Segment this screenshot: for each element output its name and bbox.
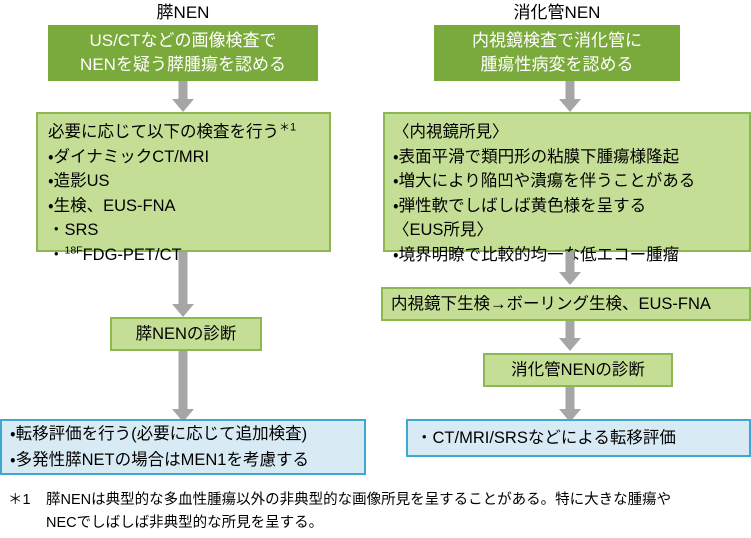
right-diagnosis-box: 消化管NENの診断 bbox=[483, 353, 673, 387]
right-findings-item-1: ・表面平滑で類円形の粘膜下腫瘍様隆起 bbox=[393, 145, 741, 170]
left-header-line-2: NENを疑う膵腫瘍を認める bbox=[80, 53, 286, 77]
column-title-pancreatic-nen: 膵NEN bbox=[48, 3, 318, 23]
right-assessment-item-0: ・CT/MRI/SRSなどによる転移評価 bbox=[416, 425, 743, 451]
footnote-mark: ＊1 bbox=[8, 489, 31, 512]
left-assessment-item-0: ・転移評価を行う(必要に応じて追加検査) bbox=[10, 421, 358, 447]
left-workup-item-pet-text: FDG-PET/CT bbox=[83, 246, 182, 264]
left-workup-heading-footnote-mark: ＊1 bbox=[279, 122, 296, 134]
left-assessment-item-1: ・多発性膵NETの場合はMEN1を考慮する bbox=[10, 447, 358, 473]
arrow-head bbox=[172, 99, 194, 112]
arrow-shaft bbox=[566, 387, 575, 409]
right-biopsy-label: 内視鏡下生検→ボーリング生検、EUS-FNA bbox=[391, 292, 711, 317]
left-assessment-lines: ・転移評価を行う(必要に応じて追加検査) ・多発性膵NETの場合はMEN1を考慮… bbox=[10, 421, 358, 473]
right-header-lines: 内視鏡検査で消化管に 腫瘍性病変を認める bbox=[472, 29, 642, 77]
right-findings-lines: 〈内視鏡所見〉 ・表面平滑で類円形の粘膜下腫瘍様隆起 ・増大により陥凹や潰瘍を伴… bbox=[393, 120, 741, 267]
left-workup-lines: 必要に応じて以下の検査を行う＊1 ・ダイナミックCT/MRI ・造影US ・生検… bbox=[48, 120, 321, 267]
right-header-line-2: 腫瘍性病変を認める bbox=[472, 53, 642, 77]
right-findings-item-4: 〈EUS所見〉 bbox=[393, 218, 741, 243]
arrow-head bbox=[559, 338, 581, 351]
arrow-shaft bbox=[179, 351, 188, 409]
left-workup-item-1: ・造影US bbox=[48, 169, 321, 194]
left-workup-item-3: ・SRS bbox=[48, 218, 321, 243]
right-findings-item-0: 〈内視鏡所見〉 bbox=[393, 120, 741, 145]
right-header-box: 内視鏡検査で消化管に 腫瘍性病変を認める bbox=[434, 25, 680, 81]
flowchart-canvas: 膵NEN 消化管NEN US/CTなどの画像検査で NENを疑う膵腫瘍を認める … bbox=[0, 0, 751, 538]
right-assessment-box: ・CT/MRI/SRSなどによる転移評価 bbox=[406, 419, 751, 457]
column-title-gi-nen: 消化管NEN bbox=[434, 3, 680, 23]
left-workup-item-0: ・ダイナミックCT/MRI bbox=[48, 145, 321, 170]
right-findings-box: 〈内視鏡所見〉 ・表面平滑で類円形の粘膜下腫瘍様隆起 ・増大により陥凹や潰瘍を伴… bbox=[383, 112, 751, 252]
footnote-line-2: NECでしばしば非典型的な所見を呈する。 bbox=[46, 512, 748, 535]
arrow-shaft bbox=[566, 81, 575, 99]
left-workup-item-2: ・生検、EUS-FNA bbox=[48, 194, 321, 219]
right-biopsy-box: 内視鏡下生検→ボーリング生検、EUS-FNA bbox=[381, 287, 751, 321]
right-diagnosis-label: 消化管NENの診断 bbox=[511, 358, 645, 383]
left-workup-item-pet-bullet: ・ bbox=[48, 246, 65, 264]
arrow-head bbox=[559, 272, 581, 285]
right-findings-item-3: ・弾性軟でしばしば黄色様を呈する bbox=[393, 194, 741, 219]
right-assessment-lines: ・CT/MRI/SRSなどによる転移評価 bbox=[416, 425, 743, 451]
footnote-line-1: 膵NENは典型的な多血性腫瘍以外の非典型的な画像所見を呈することがある。特に大き… bbox=[46, 489, 748, 512]
arrow-shaft bbox=[179, 252, 188, 304]
arrow-shaft bbox=[566, 321, 575, 338]
footnote-body: 膵NENは典型的な多血性腫瘍以外の非典型的な画像所見を呈することがある。特に大き… bbox=[46, 489, 748, 535]
arrow-head bbox=[172, 304, 194, 317]
right-header-line-1: 内視鏡検査で消化管に bbox=[472, 29, 642, 53]
left-assessment-box: ・転移評価を行う(必要に応じて追加検査) ・多発性膵NETの場合はMEN1を考慮… bbox=[0, 419, 366, 475]
arrow-shaft bbox=[179, 81, 188, 99]
left-workup-heading: 必要に応じて以下の検査を行う＊1 bbox=[48, 120, 321, 145]
left-header-box: US/CTなどの画像検査で NENを疑う膵腫瘍を認める bbox=[48, 25, 318, 81]
right-findings-item-2: ・増大により陥凹や潰瘍を伴うことがある bbox=[393, 169, 741, 194]
left-workup-heading-text: 必要に応じて以下の検査を行う bbox=[48, 123, 279, 141]
left-diagnosis-label: 膵NENの診断 bbox=[136, 322, 237, 347]
arrow-shaft bbox=[566, 252, 575, 272]
left-workup-item-pet-superscript: 18F bbox=[65, 244, 83, 256]
arrow-head bbox=[559, 99, 581, 112]
footnote: ＊1 膵NENは典型的な多血性腫瘍以外の非典型的な画像所見を呈することがある。特… bbox=[8, 489, 748, 535]
left-header-lines: US/CTなどの画像検査で NENを疑う膵腫瘍を認める bbox=[80, 29, 286, 77]
left-workup-box: 必要に応じて以下の検査を行う＊1 ・ダイナミックCT/MRI ・造影US ・生検… bbox=[36, 112, 331, 252]
left-header-line-1: US/CTなどの画像検査で bbox=[80, 29, 286, 53]
left-diagnosis-box: 膵NENの診断 bbox=[110, 317, 262, 351]
